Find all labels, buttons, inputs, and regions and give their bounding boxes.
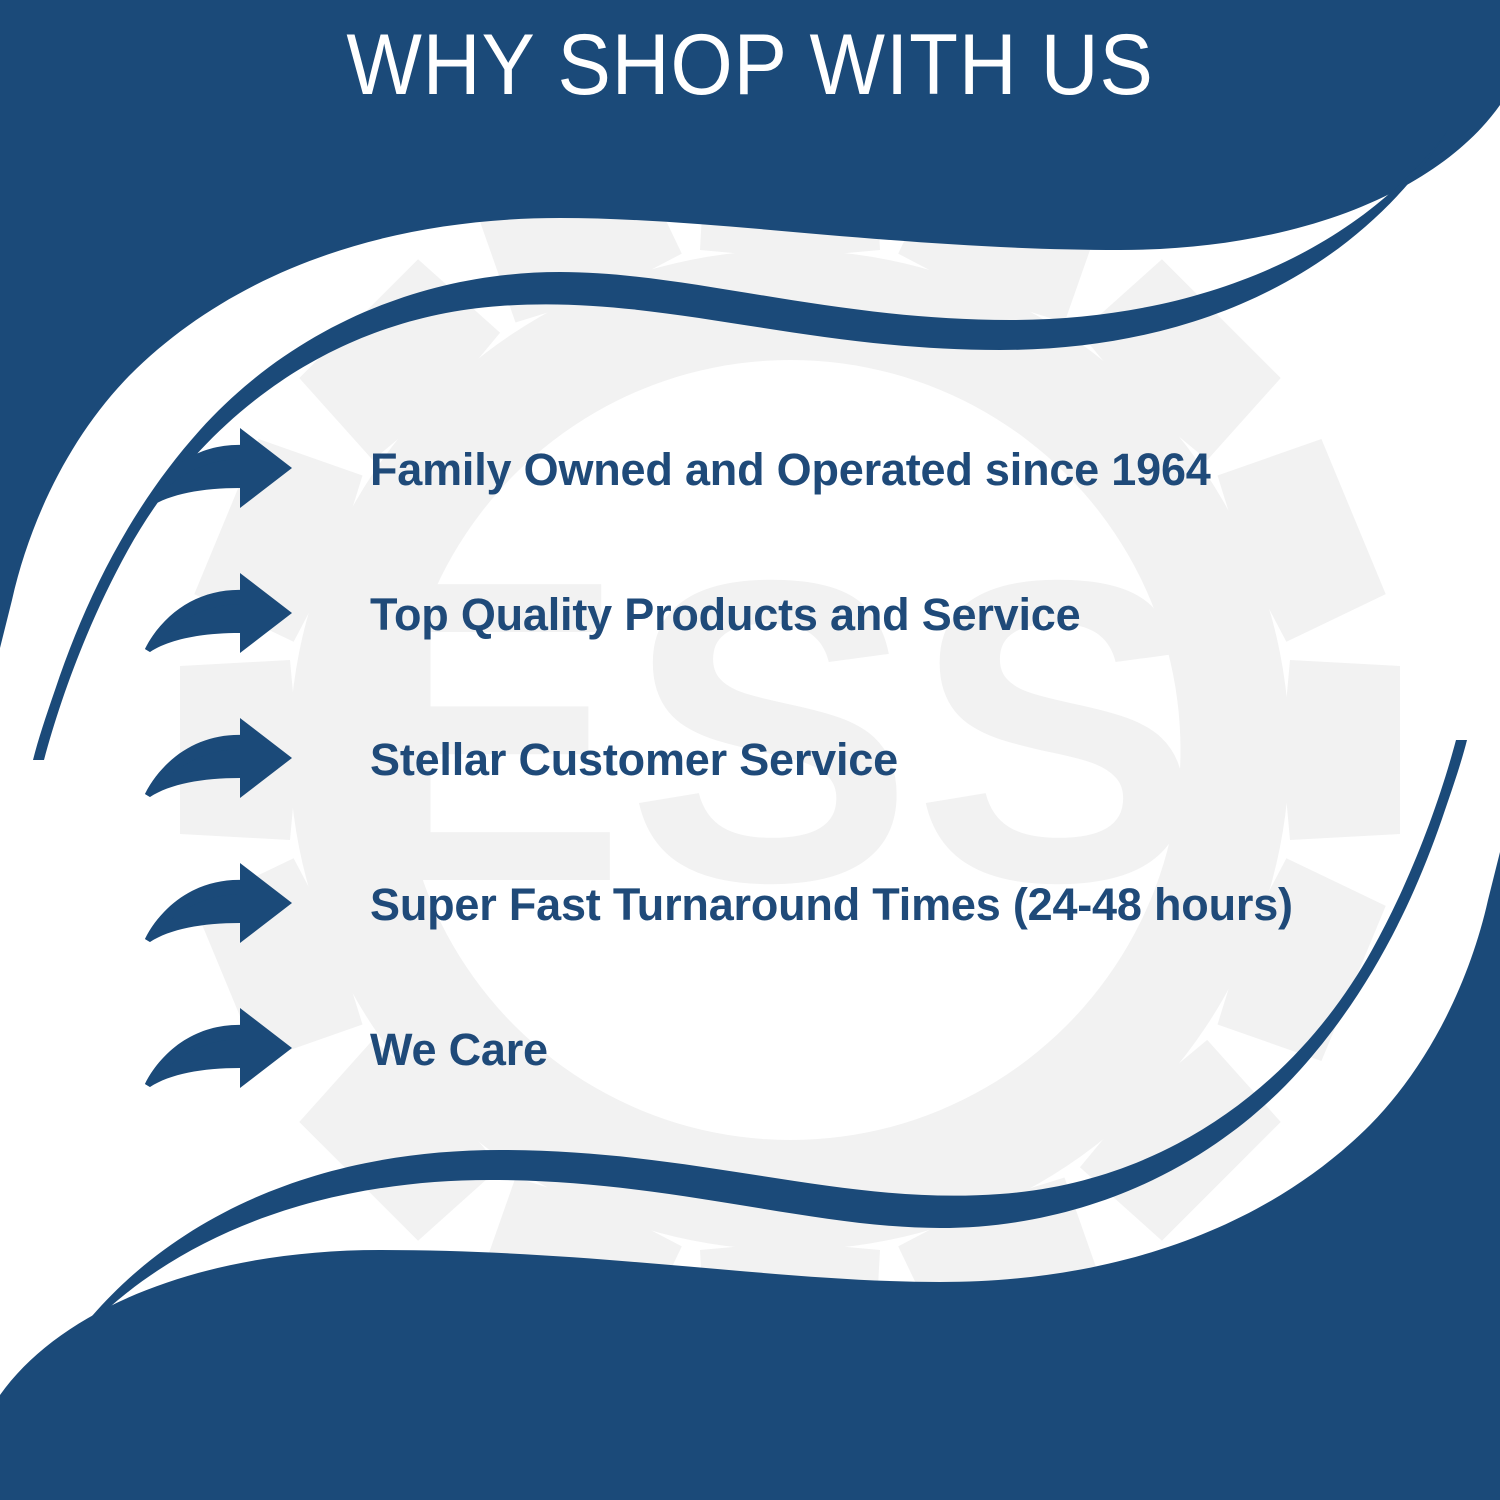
curved-arrow-right-icon — [140, 860, 300, 950]
curved-arrow-right-icon — [140, 715, 300, 805]
list-item: We Care — [140, 1000, 1460, 1100]
page-title: WHY SHOP WITH US — [346, 22, 1153, 108]
list-item: Super Fast Turnaround Times (24-48 hours… — [140, 855, 1460, 955]
promo-graphic: ESS WHY SHOP WITH US Family Owned and Op… — [0, 0, 1500, 1500]
curved-arrow-right-icon — [140, 425, 300, 515]
list-item: Stellar Customer Service — [140, 710, 1460, 810]
list-item-label: Top Quality Products and Service — [370, 591, 1080, 638]
list-item: Family Owned and Operated since 1964 — [140, 420, 1460, 520]
curved-arrow-right-icon — [140, 1005, 300, 1095]
benefits-list: Family Owned and Operated since 1964 Top… — [140, 420, 1460, 1100]
list-item-label: We Care — [370, 1026, 548, 1073]
list-item-label: Family Owned and Operated since 1964 — [370, 446, 1211, 493]
list-item: Top Quality Products and Service — [140, 565, 1460, 665]
curved-arrow-right-icon — [140, 570, 300, 660]
header: WHY SHOP WITH US — [0, 0, 1500, 130]
list-item-label: Stellar Customer Service — [370, 736, 898, 783]
list-item-label: Super Fast Turnaround Times (24-48 hours… — [370, 881, 1293, 928]
